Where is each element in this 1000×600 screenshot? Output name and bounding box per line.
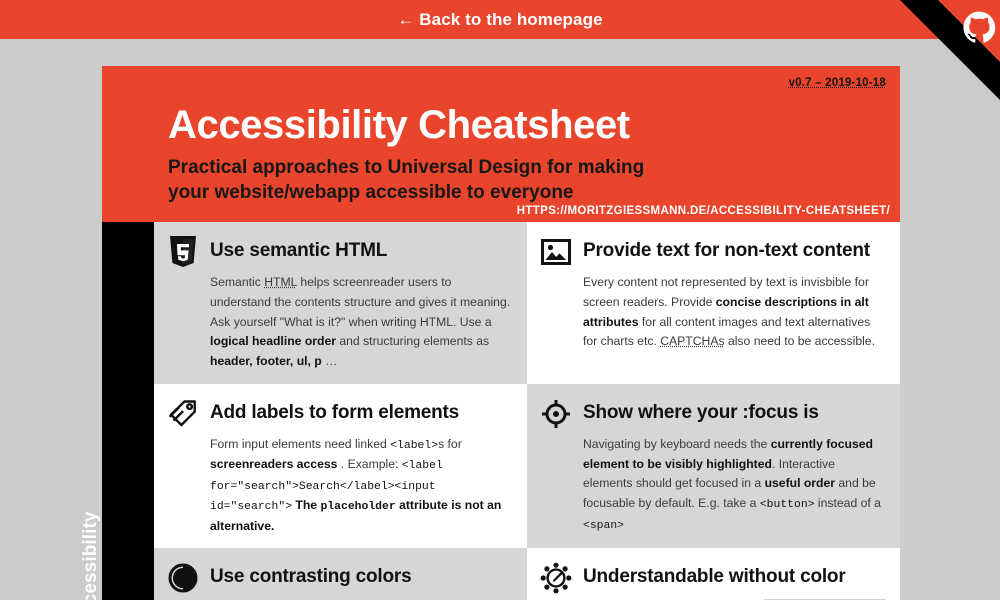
- page-root: ← Back to the homepage v0.7 – 2019-10-18…: [0, 0, 1000, 600]
- card-title: Show where your :focus is: [583, 396, 819, 424]
- sidebar-section-label: Design for accessibility: [65, 511, 117, 600]
- html5-shield-icon: [166, 235, 200, 269]
- card-header: Provide text for non-text content: [539, 234, 886, 269]
- card-title: Add labels to form elements: [210, 396, 459, 424]
- card-header: Show where your :focus is: [539, 396, 886, 431]
- card-title: Use semantic HTML: [210, 234, 387, 262]
- subtitle-line-1: Practical approaches to Universal Design…: [168, 157, 644, 178]
- card-header: Use semantic HTML: [166, 234, 513, 269]
- card-body: Semantic HTML helps screenreader users t…: [210, 273, 513, 372]
- tip-card-form-labels: Add labels to form elements Form input e…: [154, 384, 527, 549]
- subtitle-line-2: your website/webapp accessible to everyo…: [168, 182, 574, 203]
- tip-card-non-text-content: Provide text for non-text content Every …: [527, 222, 900, 384]
- card-title: Understandable without color: [583, 560, 846, 588]
- top-navigation-bar: ← Back to the homepage: [0, 0, 1000, 39]
- version-badge: v0.7 – 2019-10-18: [789, 77, 886, 89]
- card-body: Every content not represented by text is…: [583, 273, 886, 352]
- card-body: Navigating by keyboard needs the current…: [583, 435, 886, 535]
- github-corner-ribbon[interactable]: [900, 0, 1000, 100]
- cheatsheet: v0.7 – 2019-10-18 Accessibility Cheatshe…: [102, 66, 900, 600]
- cheatsheet-header: v0.7 – 2019-10-18 Accessibility Cheatshe…: [102, 66, 900, 222]
- github-octocat-icon: [900, 0, 1000, 100]
- tip-card-focus: Show where your :focus is Navigating by …: [527, 384, 900, 549]
- card-header: Use contrasting colors: [166, 560, 513, 595]
- card-body: Form input elements need linked <label>s…: [210, 435, 513, 537]
- section-sidebar: Design for accessibility: [102, 222, 154, 600]
- page-subtitle: Practical approaches to Universal Design…: [168, 155, 728, 205]
- focus-target-icon: [539, 397, 573, 431]
- site-url: HTTPS://MORITZGIESSMANN.DE/ACCESSIBILITY…: [517, 205, 890, 217]
- tips-grid: Use semantic HTML Semantic HTML helps sc…: [154, 222, 900, 600]
- card-header: Understandable without color: [539, 560, 886, 595]
- image-placeholder-icon: [539, 235, 573, 269]
- card-title: Use contrasting colors: [210, 560, 411, 588]
- tip-card-contrast: Use contrasting colors Lorem ipsum dolor…: [154, 548, 527, 600]
- page-title: Accessibility Cheatsheet: [168, 104, 886, 147]
- cheatsheet-body: Design for accessibility Us: [102, 222, 900, 600]
- contrast-circle-icon: [166, 561, 200, 595]
- card-title: Provide text for non-text content: [583, 234, 870, 262]
- card-header: Add labels to form elements: [166, 396, 513, 431]
- back-to-homepage-link[interactable]: ← Back to the homepage: [397, 10, 602, 30]
- tag-label-icon: [166, 397, 200, 431]
- tip-card-without-color: Understandable without color Colors shou…: [527, 548, 900, 600]
- color-blind-eyedropper-icon: [539, 561, 573, 595]
- tip-card-semantic-html: Use semantic HTML Semantic HTML helps sc…: [154, 222, 527, 384]
